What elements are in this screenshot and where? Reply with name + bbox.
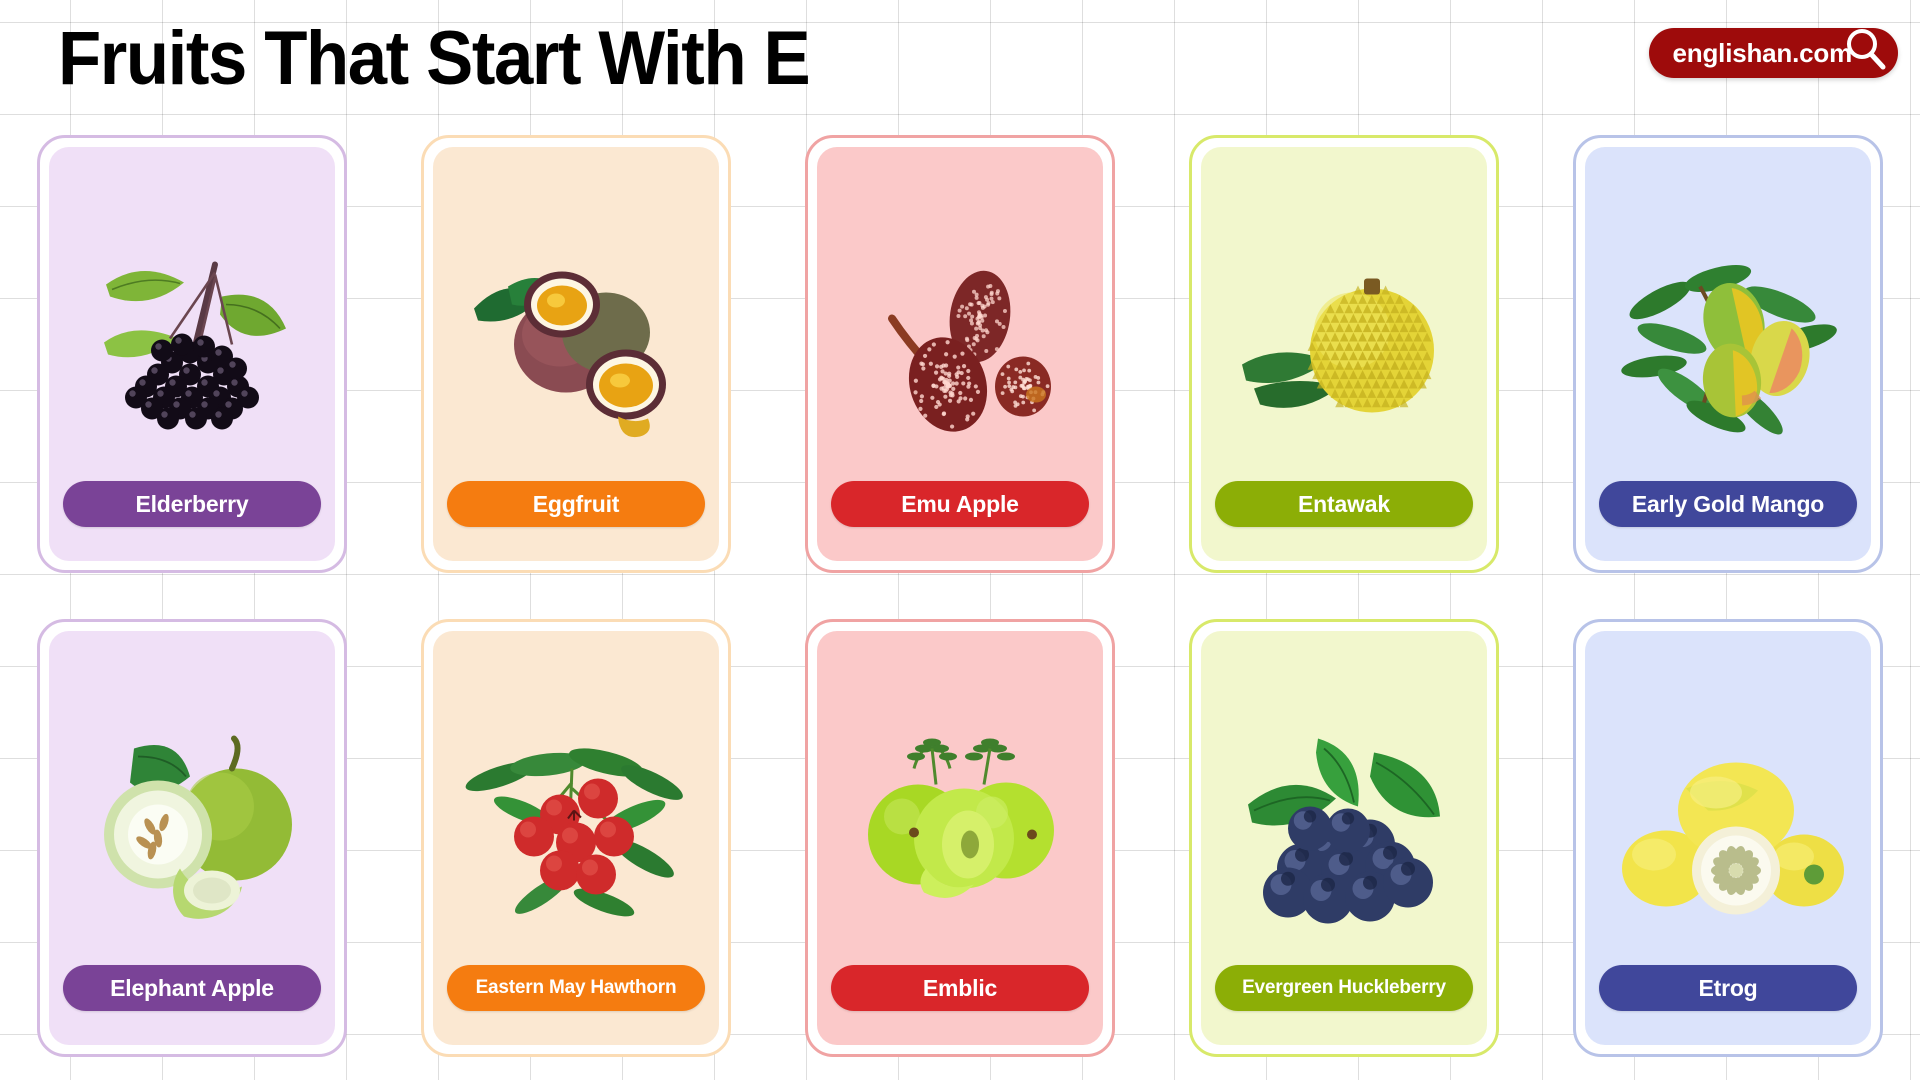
fruit-card-body: Etrog: [1585, 631, 1871, 1045]
fruit-name-label[interactable]: Early Gold Mango: [1599, 481, 1857, 527]
fruit-card-body: Emblic: [817, 631, 1103, 1045]
fruit-card[interactable]: Elderberry: [37, 135, 347, 573]
fruit-card[interactable]: Elephant Apple: [37, 619, 347, 1057]
fruits-flashcard-page: Fruits That Start With E englishan.com E…: [0, 0, 1920, 1080]
fruit-name-label[interactable]: Etrog: [1599, 965, 1857, 1011]
fruit-card[interactable]: Evergreen Huckleberry: [1189, 619, 1499, 1057]
fruit-card-slot: Early Gold Mango: [1536, 112, 1920, 596]
fruit-name-label[interactable]: Elephant Apple: [63, 965, 321, 1011]
entawak-spiky-fruit-art: [1224, 234, 1464, 449]
fruit-card-body: Emu Apple: [817, 147, 1103, 561]
fruit-card-body: Elderberry: [49, 147, 335, 561]
fruit-card[interactable]: Emblic: [805, 619, 1115, 1057]
fruit-card-slot: Eggfruit: [384, 112, 768, 596]
fruit-card[interactable]: Early Gold Mango: [1573, 135, 1883, 573]
fruit-card-body: Early Gold Mango: [1585, 147, 1871, 561]
fruit-card-body: Elephant Apple: [49, 631, 335, 1045]
magnifier-icon: [1836, 22, 1892, 78]
fruit-card-slot: Elderberry: [0, 112, 384, 596]
fruit-card-slot: Emu Apple: [768, 112, 1152, 596]
fruit-card-slot: Entawak: [1152, 112, 1536, 596]
page-title: Fruits That Start With E: [58, 18, 809, 100]
emu-apple-art: [840, 234, 1080, 449]
fruit-card-slot: Eastern May Hawthorn: [384, 596, 768, 1080]
page-header: Fruits That Start With E englishan.com: [0, 0, 1920, 112]
hawthorn-berries-art: [456, 718, 696, 933]
fruit-name-label[interactable]: Elderberry: [63, 481, 321, 527]
fruit-card[interactable]: Eggfruit: [421, 135, 731, 573]
fruit-name-label[interactable]: Evergreen Huckleberry: [1215, 965, 1473, 1011]
fruit-name-label[interactable]: Eggfruit: [447, 481, 705, 527]
fruit-card-slot: Elephant Apple: [0, 596, 384, 1080]
fruit-card[interactable]: Etrog: [1573, 619, 1883, 1057]
elephant-apple-art: [72, 718, 312, 933]
fruit-card[interactable]: Emu Apple: [805, 135, 1115, 573]
fruit-name-label[interactable]: Emblic: [831, 965, 1089, 1011]
fruit-card-slot: Emblic: [768, 596, 1152, 1080]
mango-branch-art: [1608, 234, 1848, 449]
fruit-card[interactable]: Entawak: [1189, 135, 1499, 573]
fruit-card-body: Eastern May Hawthorn: [433, 631, 719, 1045]
fruit-name-label[interactable]: Emu Apple: [831, 481, 1089, 527]
fruit-card-body: Eggfruit: [433, 147, 719, 561]
brand-badge[interactable]: englishan.com: [1649, 28, 1898, 78]
emblic-gooseberry-art: [840, 718, 1080, 933]
brand-label: englishan.com: [1673, 38, 1852, 69]
fruit-card-grid: ElderberryEggfruitEmu AppleEntawakEarly …: [0, 112, 1920, 1080]
eggfruit-halves-art: [456, 234, 696, 449]
fruit-card-body: Evergreen Huckleberry: [1201, 631, 1487, 1045]
etrog-citron-art: [1608, 718, 1848, 933]
fruit-name-label[interactable]: Entawak: [1215, 481, 1473, 527]
fruit-card[interactable]: Eastern May Hawthorn: [421, 619, 731, 1057]
elderberry-cluster-art: [72, 234, 312, 449]
huckleberry-cluster-art: [1224, 718, 1464, 933]
fruit-card-slot: Evergreen Huckleberry: [1152, 596, 1536, 1080]
fruit-name-label[interactable]: Eastern May Hawthorn: [447, 965, 705, 1011]
fruit-card-body: Entawak: [1201, 147, 1487, 561]
fruit-card-slot: Etrog: [1536, 596, 1920, 1080]
